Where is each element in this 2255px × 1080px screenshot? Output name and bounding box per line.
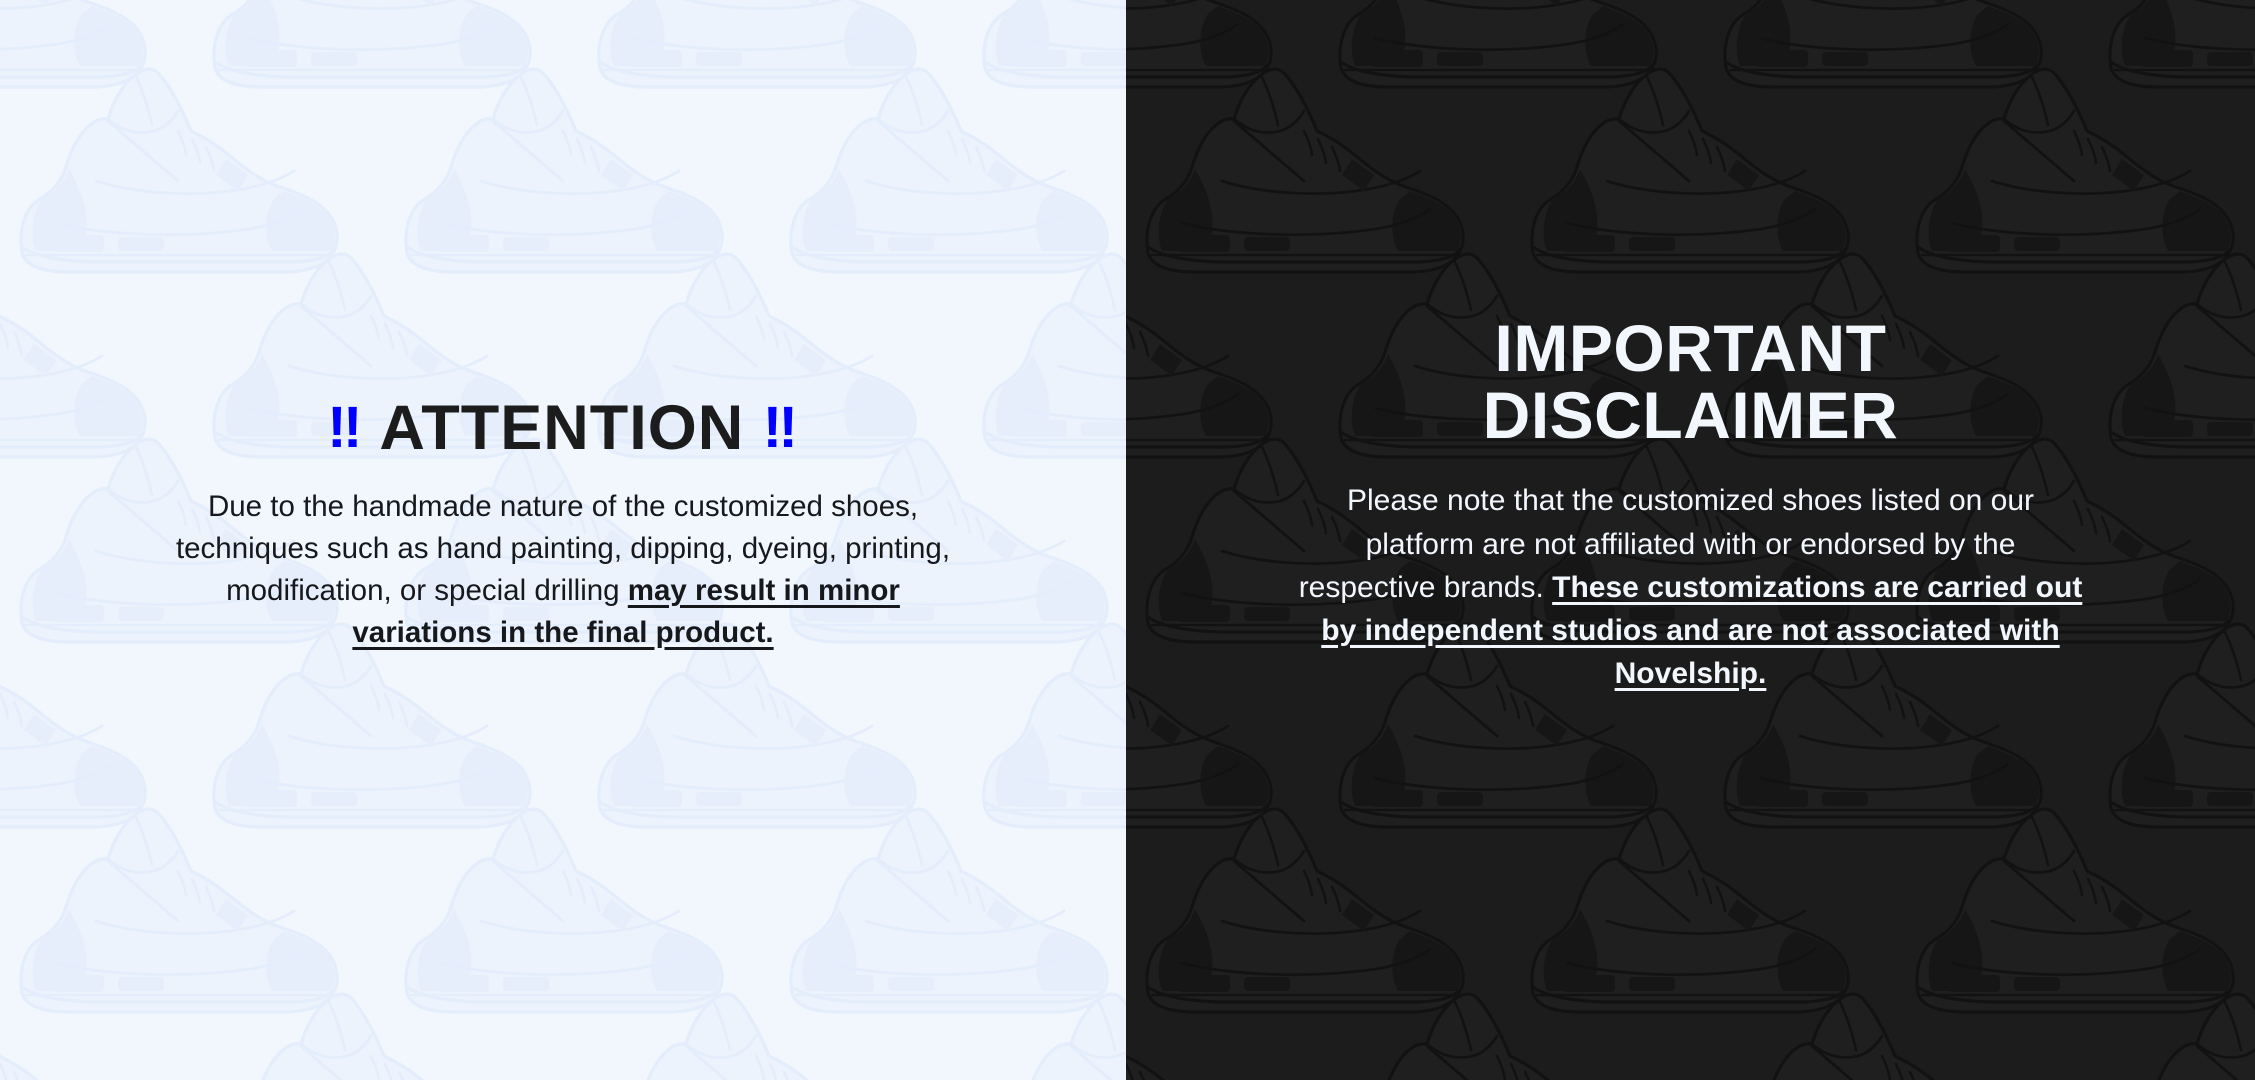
attention-panel: ‼ ATTENTION ‼ Due to the handmade nature…: [0, 0, 1126, 1080]
attention-content: ‼ ATTENTION ‼ Due to the handmade nature…: [0, 0, 1126, 1080]
attention-heading-text: ATTENTION: [379, 393, 744, 463]
double-exclamation-icon-left: ‼: [327, 395, 363, 460]
disclaimer-content: IMPORTANT DISCLAIMER Please note that th…: [1126, 0, 2255, 1080]
double-exclamation-icon-right: ‼: [763, 395, 799, 460]
disclaimer-body: Please note that the customized shoes li…: [1296, 479, 2085, 695]
disclaimer-heading: IMPORTANT DISCLAIMER: [1371, 315, 2011, 450]
attention-body: Due to the handmade nature of the custom…: [163, 486, 963, 654]
attention-heading: ‼ ATTENTION ‼: [327, 396, 799, 460]
disclaimer-panel: IMPORTANT DISCLAIMER Please note that th…: [1126, 0, 2255, 1080]
attention-disclaimer-banner: ‼ ATTENTION ‼ Due to the handmade nature…: [0, 0, 2255, 1080]
